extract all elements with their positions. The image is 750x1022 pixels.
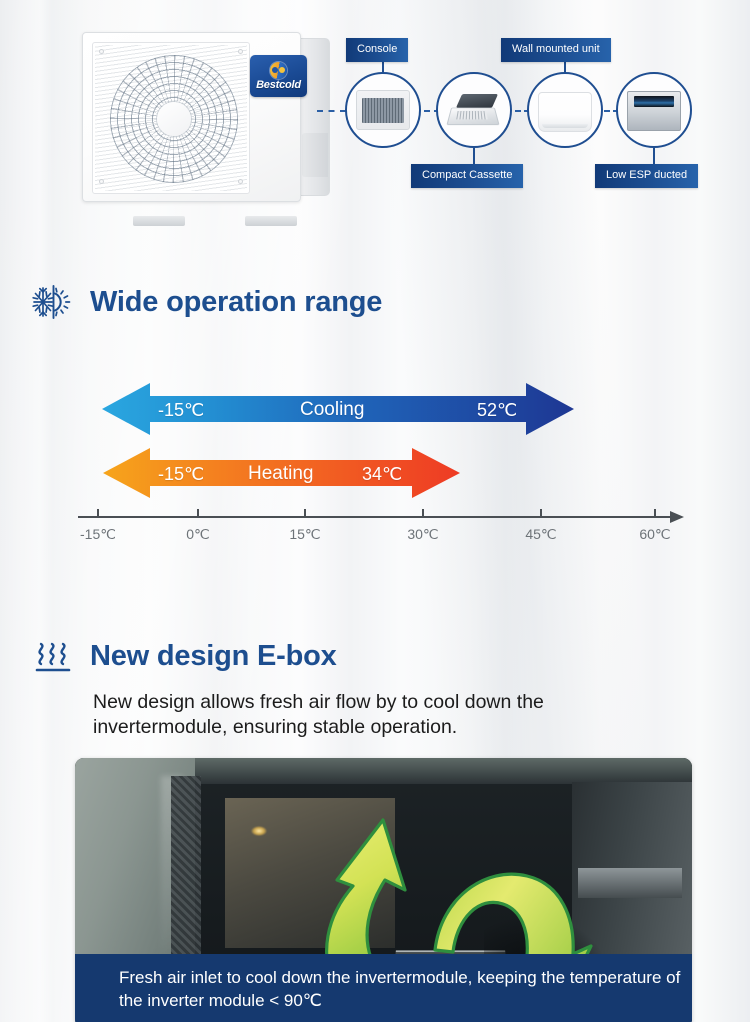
axis-tick-label: 60℃: [639, 527, 670, 541]
axis-arrowhead-icon: [670, 511, 684, 523]
cassette-unit-icon: [447, 92, 501, 132]
unit-label-console[interactable]: Console: [346, 38, 408, 62]
heating-series-name: Heating: [248, 464, 314, 483]
ducted-unit-icon: [627, 91, 681, 131]
unit-circle-wall-mounted[interactable]: [527, 72, 603, 148]
ebox-photo-caption: Fresh air inlet to cool down the inverte…: [75, 954, 692, 1022]
unit-label-wall-mounted[interactable]: Wall mounted unit: [501, 38, 611, 62]
heating-min-label: -15℃: [158, 465, 204, 483]
screw-icon: [238, 179, 243, 184]
cooling-max-label: 52℃: [477, 401, 517, 419]
page-content: Bestcold Console Compac: [0, 0, 750, 1022]
console-unit-icon: [356, 90, 410, 130]
screw-icon: [99, 179, 104, 184]
axis-ticks: [98, 509, 655, 517]
yin-yang-icon: [270, 62, 287, 79]
fan-icon: [110, 55, 238, 183]
outdoor-unit-side-vent: [302, 133, 328, 177]
cooling-min-label: -15℃: [158, 401, 204, 419]
brand-logo-text: Bestcold: [256, 80, 301, 91]
axis-tick-label: 15℃: [289, 527, 320, 541]
unit-label-compact-cassette[interactable]: Compact Cassette: [411, 164, 523, 188]
ebox-section: New design allows fresh air flow by to c…: [0, 628, 750, 1022]
brand-logo: Bestcold: [250, 55, 307, 97]
cooling-series-name: Cooling: [300, 400, 364, 419]
axis-tick-label: 30℃: [407, 527, 438, 541]
product-lineup-section: Bestcold Console Compac: [0, 0, 750, 235]
screw-icon: [99, 49, 104, 54]
outdoor-unit-foot: [245, 216, 297, 226]
axis-tick-label: 45℃: [525, 527, 556, 541]
unit-circle-compact-cassette[interactable]: [436, 72, 512, 148]
ebox-photo: Fresh air inlet to cool down the inverte…: [75, 758, 692, 1022]
cassette-grille: [456, 111, 487, 119]
wide-operation-range-heading: Wide operation range: [30, 280, 382, 324]
unit-circle-console[interactable]: [345, 72, 421, 148]
outdoor-unit: Bestcold: [82, 32, 330, 215]
heating-max-label: 34℃: [362, 465, 402, 483]
connector-dash: [317, 110, 346, 112]
outdoor-unit-foot: [133, 216, 185, 226]
axis-tick-label: -15℃: [80, 527, 116, 541]
screw-icon: [238, 49, 243, 54]
wall-mounted-unit-icon: [538, 92, 592, 132]
wide-operation-range-title: Wide operation range: [90, 288, 382, 317]
outdoor-unit-fan-grille: [92, 42, 250, 194]
duct-inlet: [634, 96, 674, 107]
ebox-description: New design allows fresh air flow by to c…: [93, 690, 673, 739]
axis-tick-label: 0℃: [186, 527, 210, 541]
snowflake-sun-icon: [30, 280, 74, 324]
unit-label-low-esp-ducted[interactable]: Low ESP ducted: [595, 164, 698, 188]
operation-range-chart: -15℃ Cooling 52℃ -15℃ Heating 34℃ -15℃ 0…: [0, 365, 750, 555]
outdoor-unit-base: [85, 215, 299, 226]
cassette-top: [456, 94, 498, 108]
unit-circle-low-esp-ducted[interactable]: [616, 72, 692, 148]
outdoor-unit-body: Bestcold: [82, 32, 301, 202]
